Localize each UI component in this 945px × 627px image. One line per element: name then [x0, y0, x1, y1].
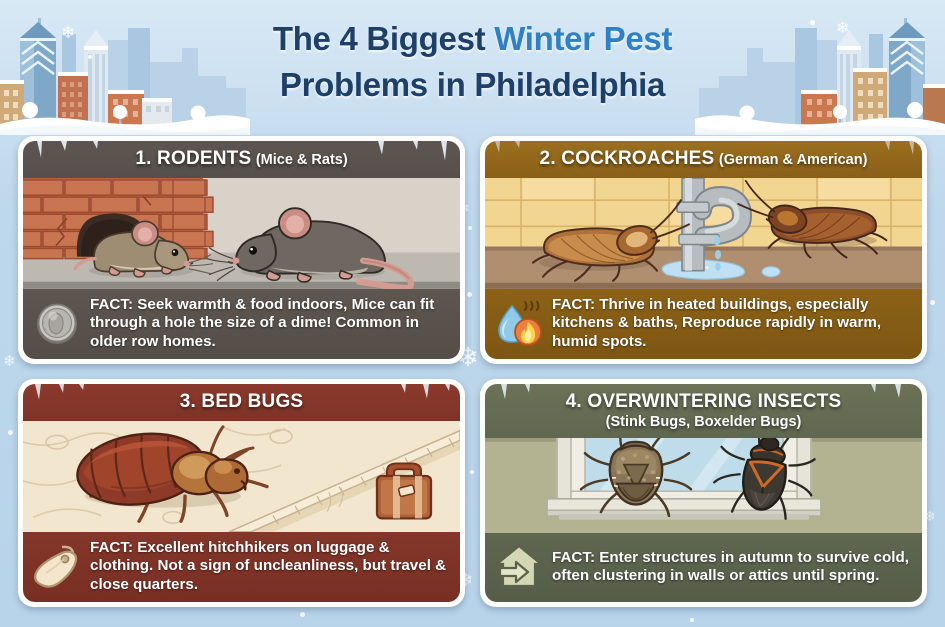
fact-text: FACT: Seek warmth & food indoors, Mice c… [90, 296, 450, 351]
title-part-accent: Winter Pest [494, 20, 672, 57]
snow-dot-icon [930, 300, 935, 305]
card-subtitle: (Mice & Rats) [256, 152, 348, 168]
card-header-overwintering-insects: 4. OVERWINTERING INSECTS (Stink Bugs, Bo… [485, 384, 922, 438]
pest-card-overwintering-insects[interactable]: 4. OVERWINTERING INSECTS (Stink Bugs, Bo… [480, 379, 927, 607]
fact-text: FACT: Enter structures in autumn to surv… [552, 549, 912, 586]
fact-text: FACT: Thrive in heated buildings, especi… [552, 296, 912, 351]
fact-text: FACT: Excellent hitchhikers on luggage &… [90, 539, 450, 594]
card-fact-cockroaches: FACT: Thrive in heated buildings, especi… [485, 289, 922, 359]
pest-card-rodents[interactable]: 1. RODENTS (Mice & Rats) [18, 136, 465, 364]
title-part-dark: The 4 Biggest [273, 20, 494, 57]
card-title: 2. COCKROACHES [540, 148, 715, 169]
page-title: The 4 Biggest Winter Pest Problems in Ph… [0, 16, 945, 107]
card-fact-rodents: FACT: Seek warmth & food indoors, Mice c… [23, 289, 460, 359]
pest-card-grid: 1. RODENTS (Mice & Rats) [18, 136, 927, 612]
card-header-rodents: 1. RODENTS (Mice & Rats) [23, 141, 460, 178]
card-title: 1. RODENTS [135, 148, 251, 169]
snow-dot-icon [690, 618, 694, 622]
card-header-bed-bugs: 3. BED BUGS [23, 384, 460, 421]
card-art-brick-wall-rodents [23, 178, 460, 289]
water-drop-and-flame-icon [494, 296, 544, 350]
dime-coin-icon [32, 296, 82, 350]
card-title: 4. OVERWINTERING INSECTS [566, 391, 842, 412]
card-fact-bed-bugs: FACT: Excellent hitchhikers on luggage &… [23, 532, 460, 602]
pest-card-cockroaches[interactable]: 2. COCKROACHES (German & American) [480, 136, 927, 364]
luggage-tag-icon [32, 539, 82, 593]
title-line-1: The 4 Biggest Winter Pest [0, 16, 945, 62]
pest-card-bed-bugs[interactable]: 3. BED BUGS [18, 379, 465, 607]
card-art-mattress-bed-bug [23, 421, 460, 532]
card-fact-overwintering-insects: FACT: Enter structures in autumn to surv… [485, 533, 922, 602]
card-subtitle: (Stink Bugs, Boxelder Bugs) [495, 414, 912, 430]
snow-dot-icon [8, 430, 13, 435]
snowflake-icon: ❄ [3, 352, 16, 370]
card-art-window-sill-insects [485, 438, 922, 533]
snow-dot-icon [300, 612, 305, 617]
infographic-canvas: ❄ ❄ ❄ ❄ ❄ ❄ ❄ The 4 Biggest Winter Pest … [0, 0, 945, 627]
card-subtitle: (German & American) [719, 152, 868, 168]
card-header-cockroaches: 2. COCKROACHES (German & American) [485, 141, 922, 178]
card-art-kitchen-pipe-cockroaches [485, 178, 922, 289]
card-title: 3. BED BUGS [180, 391, 304, 412]
house-entry-arrow-icon [494, 540, 544, 594]
title-line-2: Problems in Philadelphia [0, 62, 945, 108]
